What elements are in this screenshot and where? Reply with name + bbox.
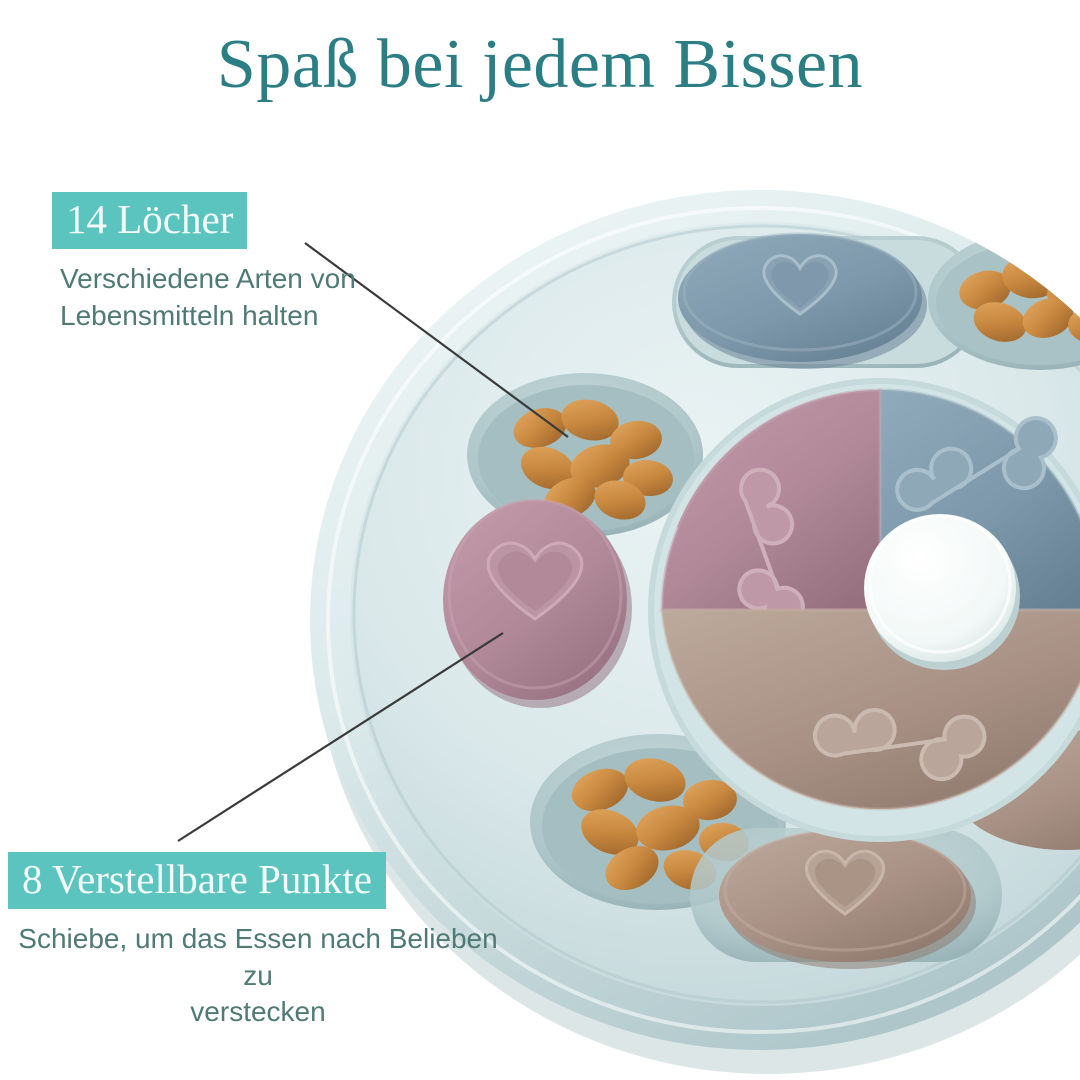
callout-holes-description: Verschiedene Arten von Lebensmitteln hal… xyxy=(52,261,356,334)
callout-holes-badge: 14 Löcher xyxy=(52,192,247,249)
callout-points-description: Schiebe, um das Essen nach Belieben zu v… xyxy=(8,921,508,1030)
page-title: Spaß bei jedem Bissen xyxy=(0,30,1080,100)
product-feature-image: Spaß bei jedem Bissen 14 Löcher Verschie… xyxy=(0,0,1080,1080)
callout-points-badge: 8 Verstellbare Punkte xyxy=(8,852,386,909)
slider-taupe-heart[interactable] xyxy=(690,828,1002,969)
callout-holes: 14 Löcher Verschiedene Arten von Lebensm… xyxy=(52,192,356,334)
callout-points: 8 Verstellbare Punkte Schiebe, um das Es… xyxy=(8,852,508,1031)
